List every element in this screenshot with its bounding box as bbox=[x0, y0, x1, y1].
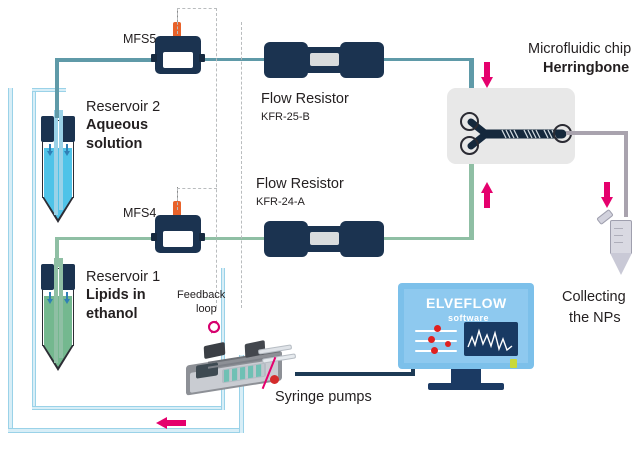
tubing-outlet-horizontal bbox=[566, 131, 628, 135]
tubing-aqueous-top-run bbox=[55, 58, 163, 62]
mfs4-label: MFS4 bbox=[123, 206, 156, 220]
signal-dashline-mid-bridge bbox=[177, 188, 217, 189]
flow-arrow-chip-inlet-up-shaft bbox=[484, 192, 490, 208]
reservoir-1-subtitle-line2: ethanol bbox=[86, 306, 138, 323]
reservoir-2-diptube-a bbox=[54, 110, 58, 215]
flow-arrow-outlet-down-shaft bbox=[604, 182, 610, 198]
reservoir-2-diptube-b bbox=[59, 110, 63, 210]
reservoir-2-tube bbox=[38, 110, 78, 232]
syringe-pumps-label: Syringe pumps bbox=[275, 389, 372, 406]
flow-resistor-top[interactable] bbox=[264, 42, 384, 78]
syringe-pump-start-button[interactable] bbox=[270, 375, 279, 384]
collecting-label-line2: the NPs bbox=[569, 310, 621, 327]
reservoir-2-subtitle-line2: solution bbox=[86, 136, 142, 153]
collecting-label-line1: Collecting bbox=[562, 289, 626, 306]
reservoir-2-title: Reservoir 2 bbox=[86, 99, 160, 116]
mfs4-signal-dashline-vertical bbox=[177, 188, 178, 210]
signal-dashline-inner bbox=[241, 22, 242, 308]
mfs5-port-left bbox=[151, 54, 157, 62]
tubing-aqueous-riser-to-mfs5 bbox=[55, 58, 59, 118]
flow-arrow-chip-inlet-down-head bbox=[481, 77, 493, 88]
software-brand-label: ELVEFLOW bbox=[426, 295, 507, 311]
reservoir-1-diptube-a bbox=[54, 258, 58, 363]
syringe-pump-clamp-left[interactable] bbox=[204, 342, 226, 359]
signal-dashline-top-bridge bbox=[177, 8, 217, 9]
software-slider-handle-3[interactable] bbox=[445, 341, 451, 347]
tubing-aqueous-inner-top-inner bbox=[32, 89, 66, 91]
collection-tube-graduation-1 bbox=[614, 228, 623, 229]
tubing-outlet-vertical bbox=[624, 131, 628, 217]
reservoir-1-diptube-b bbox=[59, 258, 63, 358]
flow-arrow-outlet-down-head bbox=[601, 197, 613, 208]
tubing-resistor-to-chip-horizontal bbox=[382, 58, 472, 61]
reservoir-1-cone-liquid bbox=[44, 345, 72, 367]
elveflow-monitor[interactable]: ELVEFLOW software bbox=[398, 283, 534, 389]
tubing-ethanol-top-run bbox=[55, 237, 163, 240]
mfs4-display-window bbox=[163, 231, 193, 247]
feedback-loop-label-line1: Feedback bbox=[177, 289, 225, 302]
mfs4-port-right bbox=[199, 233, 205, 241]
chip-inlet-port-upper bbox=[460, 112, 479, 131]
tubing-mfs4-to-resistor bbox=[200, 237, 270, 240]
mfs5-sensor-body[interactable] bbox=[155, 36, 201, 74]
collection-tube-cone bbox=[610, 253, 632, 275]
flow-resistor-bottom[interactable] bbox=[264, 221, 384, 257]
reservoir-1-title: Reservoir 1 bbox=[86, 269, 160, 286]
reservoir-1-cap-right bbox=[61, 264, 75, 290]
mfs5-signal-dashline-vertical bbox=[177, 8, 178, 34]
reservoir-2-inflow-arrowhead-left bbox=[47, 151, 53, 156]
collection-tube-graduation-3 bbox=[614, 242, 623, 243]
software-slider-handle-1[interactable] bbox=[434, 325, 441, 332]
reservoir-1-inflow-arrowhead-right bbox=[64, 299, 70, 304]
mfs4-sensor-body[interactable] bbox=[155, 215, 201, 253]
tubing-ethanol-riser bbox=[55, 237, 59, 267]
feedback-loop-label-line2: loop bbox=[196, 303, 217, 316]
tubing-mfs5-to-resistor bbox=[200, 58, 270, 61]
reservoir-2-cap-left bbox=[41, 116, 54, 142]
reservoir-1-inflow-arrowhead-left bbox=[47, 299, 53, 304]
reservoir-2-inflow-arrowhead-right bbox=[64, 151, 70, 156]
reservoir-2-cone-liquid bbox=[44, 197, 72, 219]
mfs5-label: MFS5 bbox=[123, 32, 156, 46]
reservoir-2-cap-right bbox=[61, 116, 75, 142]
software-slider-handle-2[interactable] bbox=[428, 336, 435, 343]
pump-to-computer-cable-horizontal bbox=[295, 372, 415, 376]
collection-tube-graduation-2 bbox=[614, 235, 623, 236]
tubing-ethanol-resistor-to-chip bbox=[382, 237, 472, 240]
collection-tube bbox=[596, 206, 641, 290]
flow-resistor-bottom-model: KFR-24-A bbox=[256, 196, 305, 209]
signal-dashline-outer bbox=[216, 8, 217, 308]
tubing-aqueous-left-vertical-inner bbox=[9, 88, 11, 433]
flow-arrow-chip-inlet-up bbox=[480, 182, 494, 208]
mfs5-display-window bbox=[163, 52, 193, 68]
mfs4-port-left bbox=[151, 233, 157, 241]
flow-resistor-bottom-window bbox=[310, 232, 339, 245]
chip-inlet-port-lower bbox=[460, 136, 479, 155]
reservoir-1-subtitle-line1: Lipids in bbox=[86, 287, 146, 304]
monitor-power-led bbox=[510, 359, 517, 368]
flow-resistor-bottom-left-block bbox=[264, 221, 308, 257]
flow-resistor-top-model: KFR-25-B bbox=[261, 111, 310, 124]
flow-resistor-top-left-block bbox=[264, 42, 308, 78]
software-slider-track-2[interactable] bbox=[415, 340, 457, 342]
feedback-loop-icon bbox=[205, 318, 223, 336]
software-slider-handle-4[interactable] bbox=[431, 347, 438, 354]
flow-arrow-outlet-down bbox=[600, 182, 614, 208]
flow-arrow-chip-inlet-down bbox=[480, 62, 494, 88]
flow-resistor-top-name: Flow Resistor bbox=[261, 91, 349, 108]
collection-tube-body bbox=[610, 220, 632, 254]
flow-resistor-bottom-name: Flow Resistor bbox=[256, 176, 344, 193]
flow-arrow-return-left-shaft bbox=[166, 420, 186, 426]
flow-resistor-top-window bbox=[310, 53, 339, 66]
reservoir-1-tube bbox=[38, 258, 78, 380]
software-waveform-trace bbox=[466, 325, 516, 353]
flow-arrow-return-left bbox=[156, 416, 186, 430]
flow-arrow-chip-inlet-down-shaft bbox=[484, 62, 490, 78]
tubing-aqueous-inner-bottom-inner bbox=[32, 407, 225, 409]
mfs5-port-right bbox=[199, 54, 205, 62]
chip-label-line1: Microfluidic chip bbox=[528, 41, 631, 58]
flow-resistor-bottom-right-block bbox=[340, 221, 384, 257]
tubing-aqueous-bottom-horizontal-inner bbox=[8, 429, 244, 431]
chip-label-line2: Herringbone bbox=[543, 60, 629, 77]
reservoir-2-subtitle-line1: Aqueous bbox=[86, 117, 148, 134]
monitor-stand-base bbox=[428, 383, 504, 390]
tubing-aqueous-inner-left-inner bbox=[33, 88, 35, 410]
diagram-canvas: Reservoir 2 Aqueous solution Reservoir 1… bbox=[0, 0, 641, 449]
reservoir-1-cap-left bbox=[41, 264, 54, 290]
flow-resistor-top-right-block bbox=[340, 42, 384, 78]
